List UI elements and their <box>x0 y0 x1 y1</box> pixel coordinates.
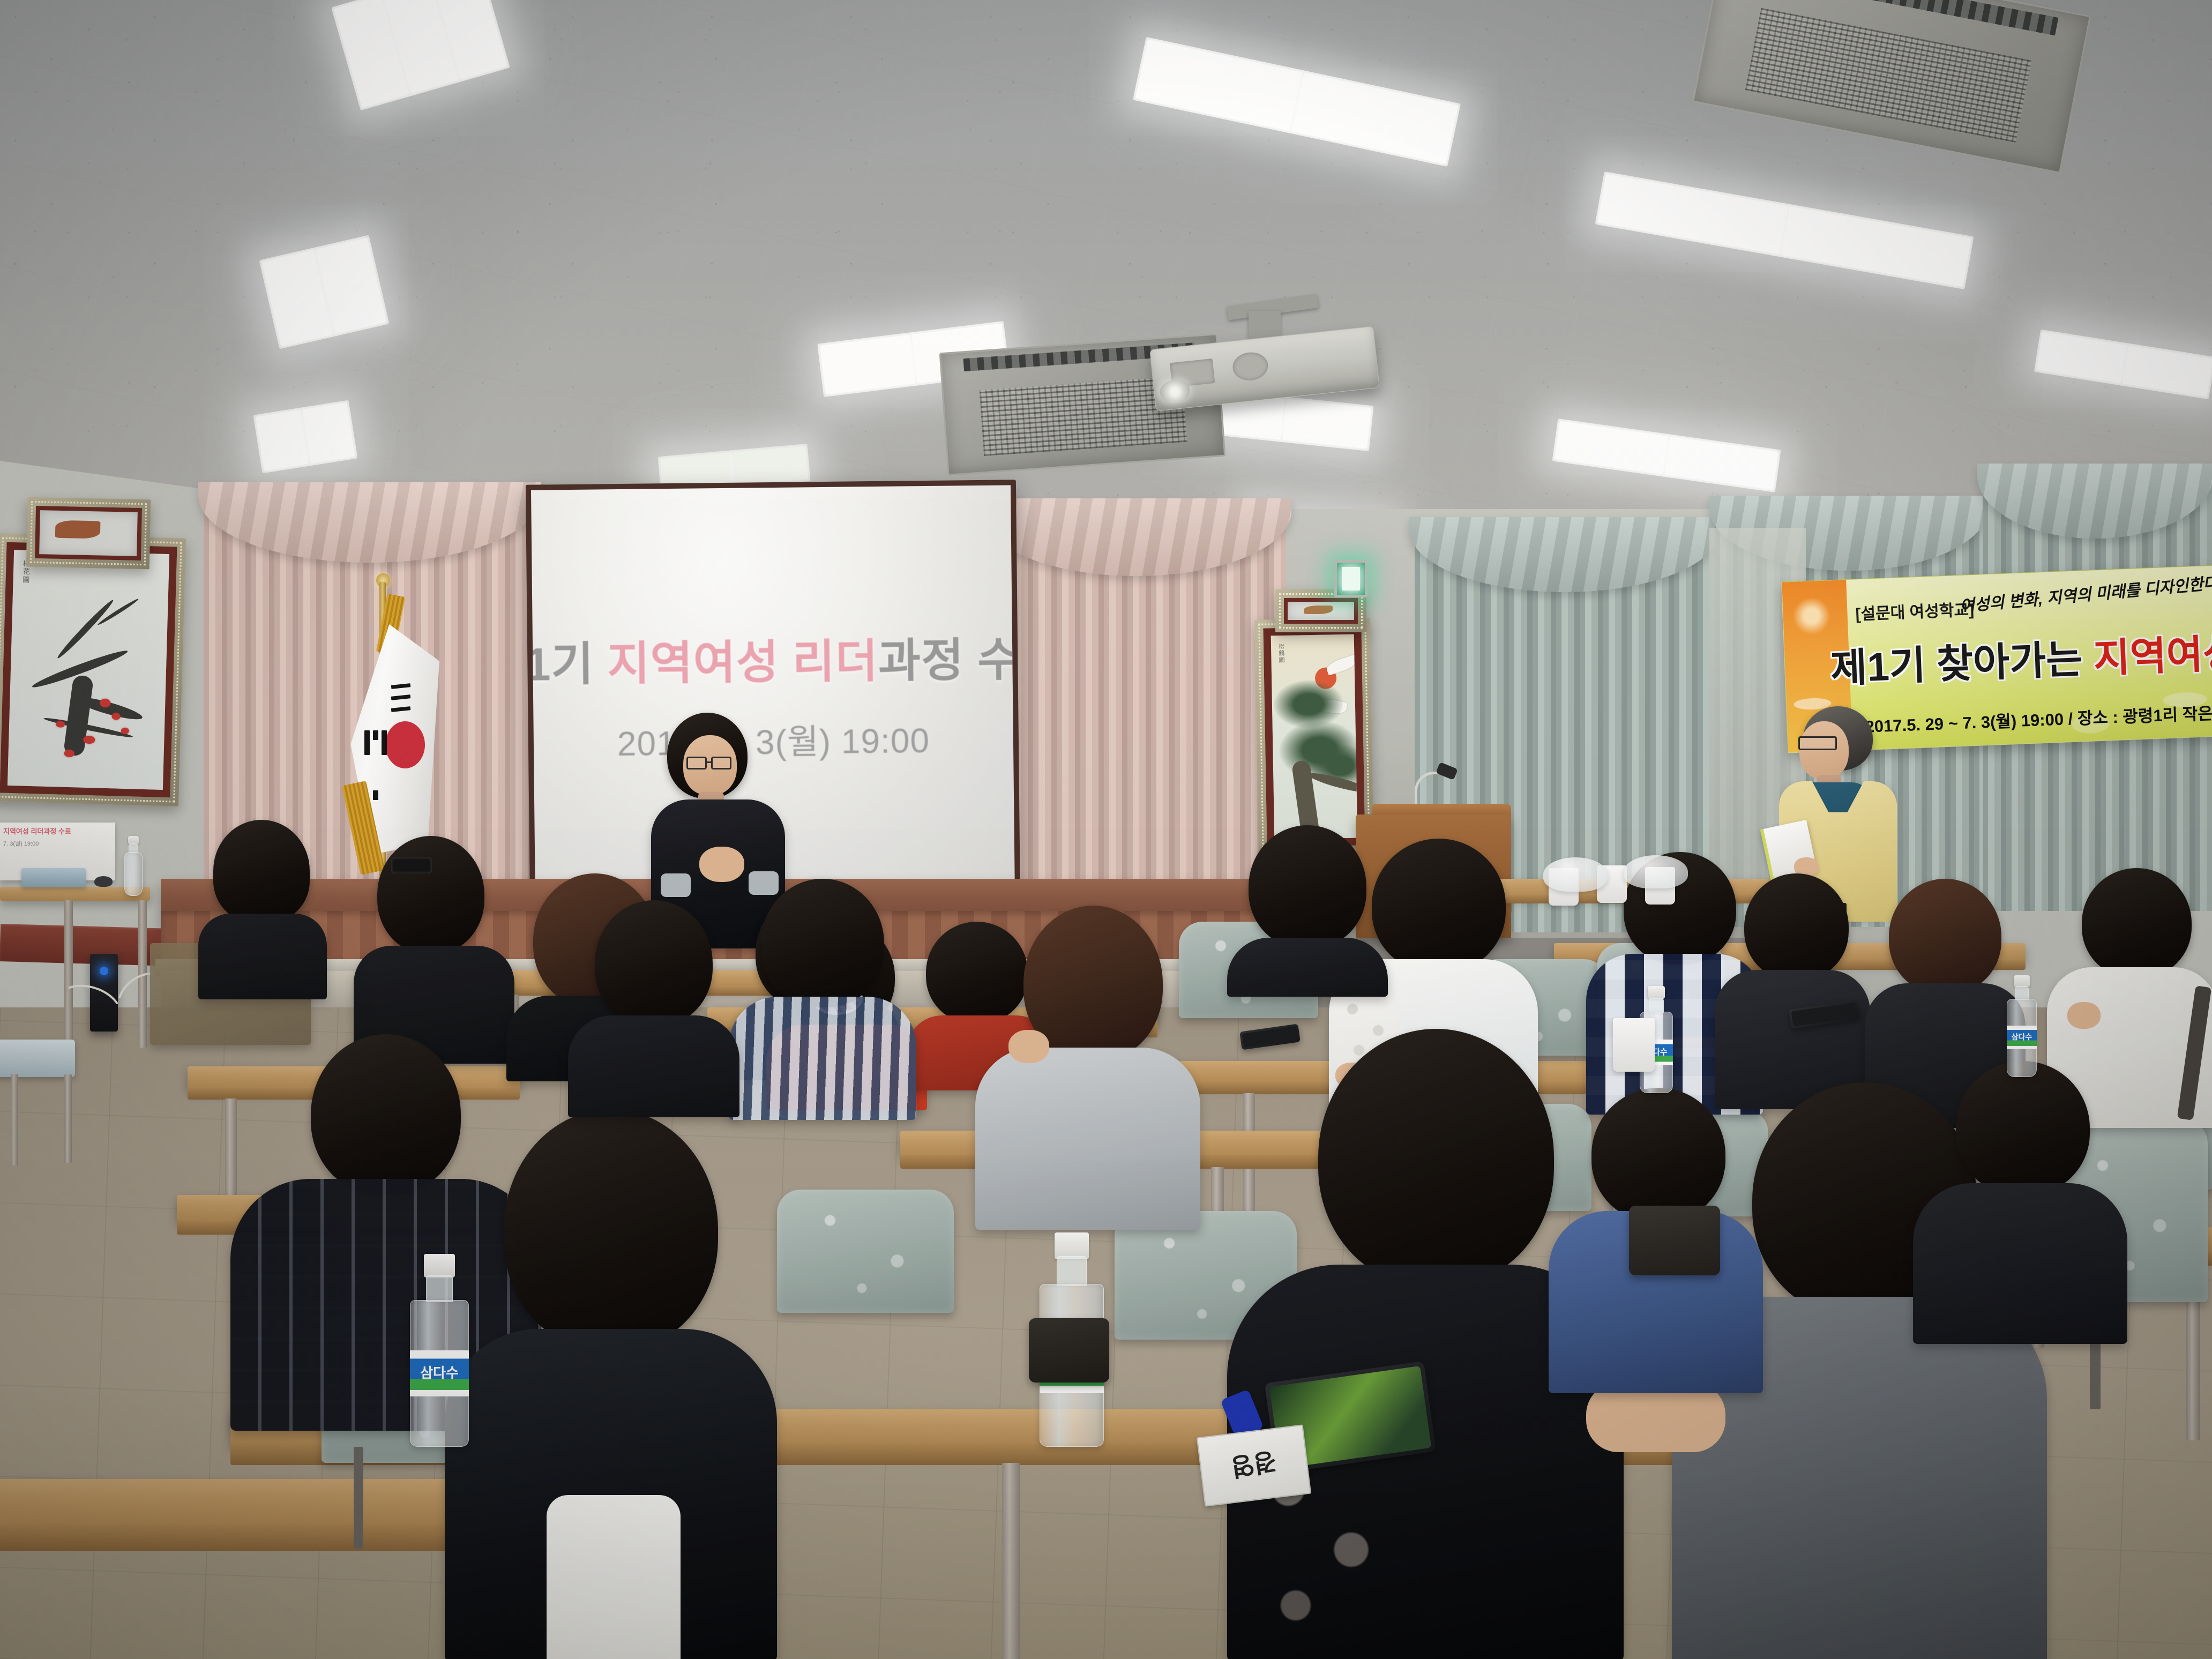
bottle-label: 삼다수 <box>410 1350 469 1396</box>
plastic-bag-on-table <box>1543 857 1608 892</box>
audience-hair <box>1249 825 1366 948</box>
audience-gray-top <box>975 1048 1200 1230</box>
framed-painting-small-upper-left <box>26 497 151 570</box>
bottle-cap <box>2014 975 2030 987</box>
desk-clutter-boxes <box>21 868 86 887</box>
audience-hair <box>1372 839 1506 973</box>
person-audience <box>568 900 739 1115</box>
crane-painting-canvas: 松鶴圖 <box>1271 634 1358 840</box>
banner-main-title: 제1기 찾아가는 지역여성 리더과 <box>1829 616 2212 694</box>
taeguk-red-half <box>385 721 425 768</box>
audience-hair <box>1318 1029 1554 1286</box>
audience-hair-clip <box>391 857 432 873</box>
painted-crane <box>1325 654 1358 676</box>
slide-title-highlight: 지역여성 리더 <box>607 635 879 689</box>
lecture-hall-photo: 제1기 지역여성 리더과정 수료 2017. 7. 3(월) 19:00 梅花圖 <box>0 0 2212 1659</box>
audience-top <box>1913 1183 2127 1344</box>
flag-trigram <box>373 790 378 800</box>
audience-white-inner-shirt <box>547 1495 681 1659</box>
audience-hair <box>1889 879 2001 994</box>
bottle-label: 삼다수 <box>2007 1026 2037 1049</box>
plum-branch <box>55 597 115 660</box>
audience-hair <box>1744 873 1849 981</box>
plum-blossom <box>112 713 121 720</box>
bottle-cap <box>424 1254 455 1277</box>
poster-line-2: 7. 3(월) 19:00 <box>3 839 112 848</box>
painting-mat-small <box>1284 598 1358 624</box>
audience-top <box>1227 938 1388 997</box>
handbag-under-chair <box>1629 1206 1720 1275</box>
speaker-glasses-right-lens <box>711 757 731 769</box>
painting-mat-small <box>35 506 142 561</box>
banner-title-black: 제1기 찾아가는 <box>1830 636 2095 691</box>
banner-organization-tag: [설문대 여성학교] <box>1855 596 1975 624</box>
flag-trigram <box>391 706 411 712</box>
audience-hair <box>1956 1061 2090 1195</box>
bottle-cap <box>1648 986 1665 999</box>
audience-hair <box>377 836 484 954</box>
person-audience <box>359 836 509 1061</box>
audience-striped-top <box>729 997 916 1120</box>
table-leg <box>1002 1463 1020 1659</box>
flag-trigram <box>391 694 411 700</box>
plum-blossom <box>56 721 65 727</box>
person-audience-foreground-left <box>413 1109 788 1659</box>
exit-sign-pictogram <box>1342 567 1360 591</box>
banner-title-red: 지역여성 리더과 <box>2093 626 2212 681</box>
paper-cup <box>1613 1018 1655 1072</box>
bin-stand-leg <box>11 1074 18 1165</box>
slide-title-part2: 과정 수료 <box>878 633 1015 687</box>
audience-hand-at-face <box>1008 1030 1049 1063</box>
standing-man-glasses <box>1798 736 1837 750</box>
bottle-neck <box>2015 986 2029 1000</box>
projector-speaker-grille <box>1231 350 1269 382</box>
bottle-cap <box>1055 1232 1089 1259</box>
speaker-glasses-bridge <box>707 761 712 763</box>
audience-hand <box>2067 1002 2101 1029</box>
audience-hair <box>595 900 713 1026</box>
bottle-body <box>124 852 143 896</box>
plum-blossom <box>121 727 129 734</box>
audience-top <box>568 1015 739 1117</box>
framed-painting-plum: 梅花圖 <box>0 533 186 806</box>
name-badge: 경영 <box>1197 1424 1311 1506</box>
chair <box>777 1190 954 1313</box>
plastic-bag-on-table <box>1624 855 1688 888</box>
bottle-brand-text: 삼다수 <box>420 1362 459 1382</box>
desk-mouse <box>94 876 113 887</box>
painting-mat-crane: 松鶴圖 <box>1263 626 1365 847</box>
plum-calligraphy: 梅花圖 <box>20 559 30 640</box>
plum-painting-canvas: 梅花圖 <box>8 550 169 790</box>
plum-trunk <box>63 674 94 757</box>
person-audience <box>1908 1061 2133 1340</box>
audience-top <box>198 914 327 999</box>
name-badge-text: 경영 <box>1229 1445 1279 1486</box>
slide-title: 제1기 지역여성 리더과정 수료 <box>531 621 1015 694</box>
bin-stand-leg <box>64 1074 72 1163</box>
person-audience <box>965 906 1200 1227</box>
person-audience <box>198 820 327 997</box>
flag-trigram <box>382 730 387 755</box>
flag-trigram <box>391 683 411 689</box>
bottle-brand-text: 삼다수 <box>2012 1032 2032 1042</box>
storage-bin <box>0 1040 75 1077</box>
person-audience <box>1227 825 1388 986</box>
handbag-under-chair-2 <box>1029 1318 1109 1382</box>
audience-hair <box>213 820 310 922</box>
plum-blossom <box>83 736 95 744</box>
flag-trigram <box>364 730 370 755</box>
banner-slogan: 여성의 변화, 지역의 미래를 디자인한다 <box>1959 570 2212 617</box>
plum-blossom <box>64 749 74 757</box>
water-bottle-foreground-left: 삼다수 <box>410 1254 469 1447</box>
audience-hair <box>2082 868 2192 978</box>
bottle-neck <box>426 1275 453 1302</box>
speaker-hands-clasped <box>699 847 744 882</box>
crane-calligraphy: 松鶴圖 <box>1277 643 1284 691</box>
painting-mat-plum: 梅花圖 <box>0 542 177 798</box>
speaker-glasses-left-lens <box>686 757 707 769</box>
chair-leg <box>354 1447 363 1549</box>
poster-line-1: 지역여성 리더과정 수료 <box>3 826 112 836</box>
audience-hair <box>1591 1088 1725 1222</box>
audience-hair <box>504 1109 718 1350</box>
bottle-neck <box>1649 998 1664 1013</box>
flag-trigram <box>373 730 378 740</box>
audience-hair <box>761 879 884 1007</box>
water-bottle-right: 삼다수 <box>2007 975 2037 1077</box>
emergency-exit-sign <box>1334 560 1367 597</box>
bottle-neck <box>1057 1256 1087 1286</box>
water-bottle-on-desk <box>124 836 143 896</box>
person-audience <box>1715 873 1870 1109</box>
person-audience <box>723 879 916 1115</box>
standing-man-face <box>1799 721 1849 779</box>
slide-title-part1: 제1기 <box>531 638 608 691</box>
pc-power-led <box>100 967 108 975</box>
